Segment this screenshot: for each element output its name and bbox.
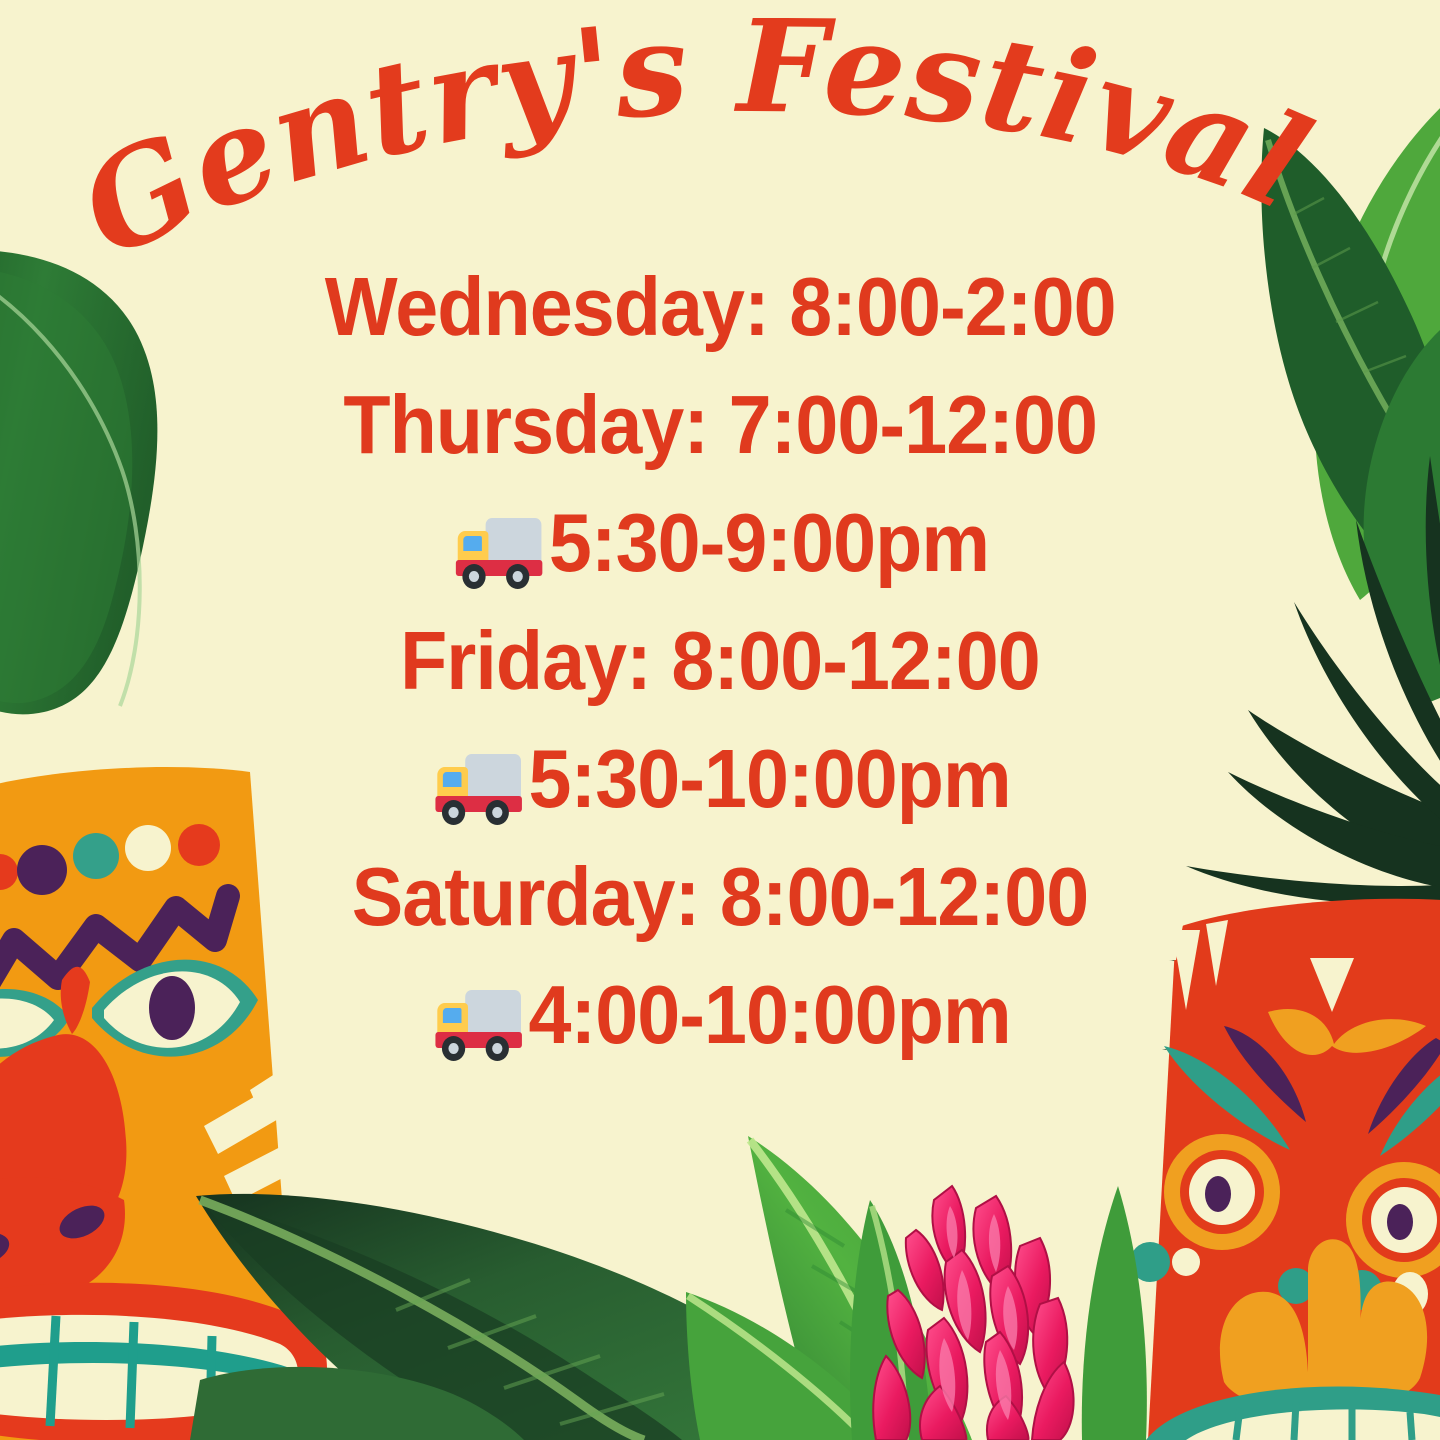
leaf-ginger-stem-right-icon	[1082, 1186, 1147, 1440]
hours-text-saturday-evening: 4:00-10:00pm	[528, 956, 1010, 1074]
hours-text-friday: Friday: 8:00-12:00	[400, 602, 1040, 720]
pink-ginger-flower-icon	[873, 1186, 1073, 1440]
hours-row-thursday: Thursday: 7:00-12:00	[343, 366, 1097, 484]
hours-row-friday: Friday: 8:00-12:00	[400, 602, 1040, 720]
delivery-truck-emoji-icon	[430, 746, 527, 824]
hours-row-saturday-evening: 4:00-10:00pm	[430, 956, 1011, 1074]
hours-text-thursday-evening: 5:30-9:00pm	[549, 484, 989, 602]
leaf-bottom-center-lower-icon	[686, 1292, 896, 1440]
hours-row-friday-evening: 5:30-10:00pm	[430, 720, 1011, 838]
leaf-ginger-stem-left-icon	[850, 1200, 932, 1440]
page-title-label: Gentry's Festival Week Hours	[0, 18, 1377, 288]
hours-list: Wednesday: 8:00-2:00 Thursday: 7:00-12:0…	[0, 248, 1440, 1074]
hours-text-friday-evening: 5:30-10:00pm	[528, 720, 1010, 838]
festival-hours-poster: Gentry's Festival Week Hours Wednesday: …	[0, 0, 1440, 1440]
hours-text-saturday: Saturday: 8:00-12:00	[352, 838, 1089, 956]
hours-row-thursday-evening: 5:30-9:00pm	[451, 484, 990, 602]
delivery-truck-emoji-icon	[430, 982, 527, 1060]
page-title: Gentry's Festival Week Hours	[0, 18, 1440, 288]
banana-leaf-bottom-left-icon	[196, 1194, 866, 1440]
hours-row-saturday: Saturday: 8:00-12:00	[352, 838, 1089, 956]
leaf-bottom-center-upper-icon	[748, 1136, 972, 1440]
delivery-truck-emoji-icon	[451, 510, 548, 588]
page-title-text: Gentry's Festival Week Hours	[0, 18, 1377, 288]
hours-text-thursday: Thursday: 7:00-12:00	[343, 366, 1097, 484]
leaf-bottom-left-small-icon	[190, 1367, 524, 1440]
